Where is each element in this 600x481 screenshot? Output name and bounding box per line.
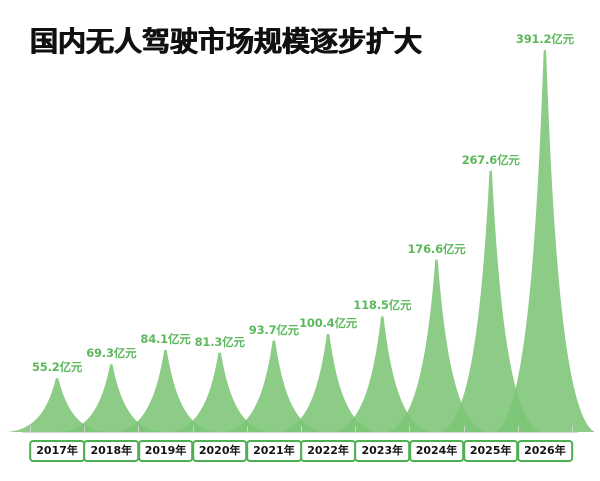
- x-axis-label-2018年: 2018年: [83, 440, 139, 462]
- peak-series-group: [0, 0, 600, 481]
- x-axis-tick: [30, 426, 31, 433]
- x-axis-tick: [464, 426, 465, 433]
- data-label-2025年: 267.6亿元: [462, 152, 520, 168]
- x-axis-label-2023年: 2023年: [354, 440, 410, 462]
- x-axis-label-2025年: 2025年: [463, 440, 519, 462]
- x-axis-tick: [409, 426, 410, 433]
- x-axis-tick: [84, 426, 85, 433]
- x-axis-tick: [518, 426, 519, 433]
- x-axis-tick: [572, 426, 573, 433]
- data-label-2021年: 93.7亿元: [249, 322, 299, 338]
- x-axis-tick: [138, 426, 139, 433]
- x-axis-tick: [247, 426, 248, 433]
- data-label-2017年: 55.2亿元: [32, 359, 82, 375]
- data-label-2019年: 84.1亿元: [140, 331, 190, 347]
- x-axis-tick: [355, 426, 356, 433]
- plot-area: [0, 0, 600, 481]
- data-label-2026年: 391.2亿元: [516, 31, 574, 47]
- data-label-2020年: 81.3亿元: [195, 334, 245, 350]
- data-label-2022年: 100.4亿元: [299, 315, 357, 331]
- data-label-2023年: 118.5亿元: [353, 297, 411, 313]
- chart-container: 国内无人驾驶市场规模逐步扩大 55.2亿元69.3亿元84.1亿元81.3亿元9…: [0, 0, 600, 481]
- data-label-2024年: 176.6亿元: [408, 241, 466, 257]
- x-axis-label-2022年: 2022年: [300, 440, 356, 462]
- x-axis-label-2017年: 2017年: [29, 440, 85, 462]
- x-axis-label-2024年: 2024年: [409, 440, 465, 462]
- x-axis-line: [22, 432, 578, 433]
- x-axis-tick: [193, 426, 194, 433]
- x-axis-label-2019年: 2019年: [138, 440, 194, 462]
- x-axis-tick: [301, 426, 302, 433]
- x-axis-label-2021年: 2021年: [246, 440, 302, 462]
- data-label-2018年: 69.3亿元: [86, 345, 136, 361]
- x-axis-label-2020年: 2020年: [192, 440, 248, 462]
- x-axis-label-2026年: 2026年: [517, 440, 573, 462]
